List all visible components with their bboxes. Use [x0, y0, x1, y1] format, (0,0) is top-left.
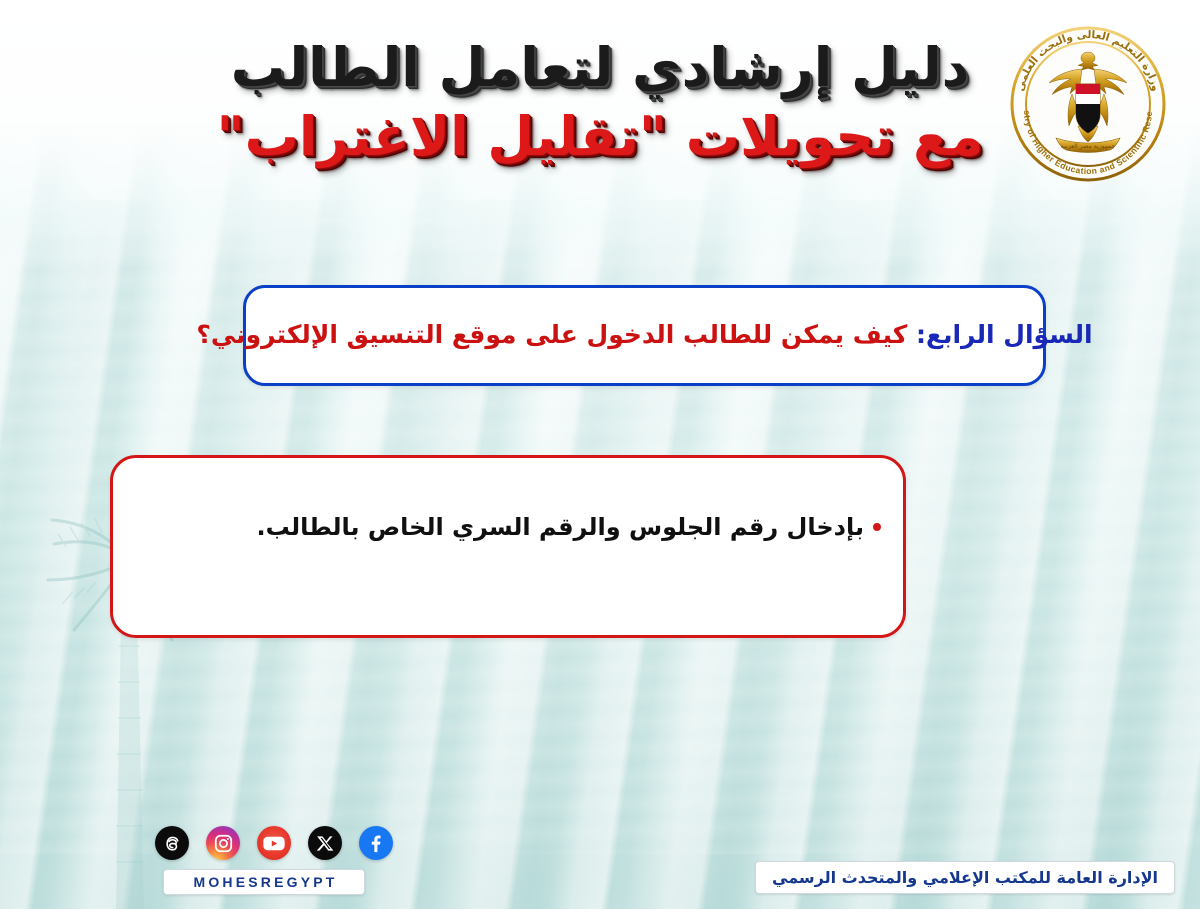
department-chip: الإدارة العامة للمكتب الإعلامي والمتحدث … [755, 861, 1175, 894]
answer-list: بإدخال رقم الجلوس والرقم السري الخاص بال… [135, 510, 881, 545]
question-label: السؤال الرابع: [916, 320, 1093, 349]
svg-text:جمهورية مصر العربية: جمهورية مصر العربية [1061, 143, 1116, 150]
threads-icon[interactable] [155, 826, 189, 860]
ministry-logo-icon: وزارة التعليم العالى والبحث العلمى Minis… [998, 14, 1178, 194]
social-media-row [155, 826, 393, 860]
youtube-icon[interactable] [257, 826, 291, 860]
page-title: دليل إرشادي لتعامل الطالب مع تحويلات "تق… [205, 34, 995, 171]
slide-header: دليل إرشادي لتعامل الطالب مع تحويلات "تق… [0, 0, 1200, 230]
answer-text: بإدخال رقم الجلوس والرقم السري الخاص بال… [135, 510, 864, 545]
facebook-icon[interactable] [359, 826, 393, 860]
slide-footer: MOHESREGYPT الإدارة العامة للمكتب الإعلا… [0, 799, 1200, 909]
bullet-point-icon [873, 523, 881, 531]
instagram-icon[interactable] [206, 826, 240, 860]
question-body: كيف يمكن للطالب الدخول على موقع التنسيق … [196, 320, 907, 349]
x-twitter-icon[interactable] [308, 826, 342, 860]
question-text: السؤال الرابع: كيف يمكن للطالب الدخول عل… [186, 319, 1102, 352]
social-handle-text: MOHESREGYPT [190, 874, 337, 890]
list-item: بإدخال رقم الجلوس والرقم السري الخاص بال… [135, 510, 881, 545]
answer-box: بإدخال رقم الجلوس والرقم السري الخاص بال… [110, 455, 906, 638]
title-line-secondary: مع تحويلات "تقليل الاغتراب" [205, 103, 995, 172]
question-box: السؤال الرابع: كيف يمكن للطالب الدخول عل… [243, 285, 1046, 386]
department-text: الإدارة العامة للمكتب الإعلامي والمتحدث … [772, 868, 1158, 887]
social-handle-chip[interactable]: MOHESREGYPT [163, 869, 365, 895]
slide-canvas: دليل إرشادي لتعامل الطالب مع تحويلات "تق… [0, 0, 1200, 909]
title-line-primary: دليل إرشادي لتعامل الطالب [205, 34, 995, 103]
